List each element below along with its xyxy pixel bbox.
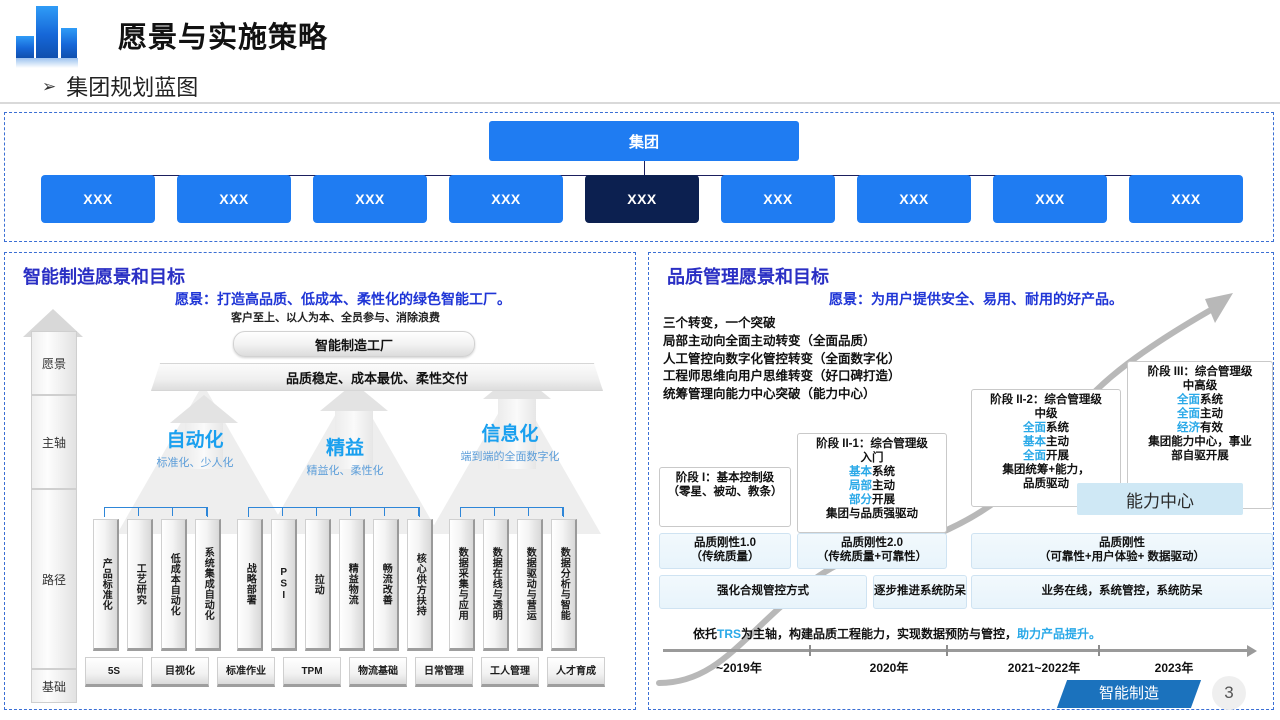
path-bracket-tick [282, 507, 283, 516]
path-bracket-tick [248, 507, 249, 516]
stage-line: 集团能力中心，事业 [1130, 435, 1270, 449]
foundation-chip[interactable]: 物流基础 [349, 657, 407, 687]
stage-line: 集团统筹+能力， [974, 463, 1118, 477]
stage-line: 部分开展 [800, 493, 944, 507]
timeline-tick-1 [809, 645, 811, 656]
org-node-2[interactable]: XXX [177, 175, 291, 223]
stage-title: 阶段 II-2：综合管理级 [974, 393, 1118, 407]
company-building-logo [14, 6, 92, 68]
transformation-line: 工程师思维向用户思维转变（好口碑打造） [663, 368, 901, 386]
transformation-line: 三个转变，一个突破 [663, 315, 901, 333]
stage-line: 部自驱开展 [1130, 449, 1270, 463]
left-vision-subtext: 客户至上、以人为本、全员参与、消除浪费 [231, 309, 440, 325]
org-connector-stem [644, 161, 645, 175]
transformation-line: 统筹管理向能力中心突破（能力中心） [663, 386, 901, 404]
timeline-tick-2 [946, 645, 948, 656]
foundation-chip[interactable]: 标准作业 [217, 657, 275, 687]
timeline-label: ~2019年 [679, 659, 799, 676]
stage-title: 阶段 I：基本控制级 [662, 471, 788, 485]
rigidity-cell[interactable]: 品质刚性1.0 （传统质量） [659, 533, 791, 569]
path-chip[interactable]: 战略部署 [237, 519, 263, 651]
path-chip[interactable]: 数据驱动与营运 [517, 519, 543, 651]
org-node-5[interactable]: XXX [585, 175, 699, 223]
pillar-title-2: 精益 精益化、柔性化 [275, 439, 415, 478]
stage-box-stage-1[interactable]: 阶段 I：基本控制级（零星、被动、教条） [659, 467, 791, 527]
timeline-tick-3 [1098, 645, 1100, 656]
stage-line: 入门 [800, 451, 944, 465]
section-subtitle: 集团规划蓝图 [66, 70, 198, 102]
path-bracket-tick [172, 507, 173, 516]
stage-line: 全面系统 [974, 421, 1118, 435]
timeline-label: 2020年 [829, 659, 949, 676]
path-group-bracket-2 [248, 507, 420, 517]
org-node-9[interactable]: XXX [1129, 175, 1243, 223]
org-chart-panel: 集团 XXXXXXXXXXXXXXXXXXXXXXXXXXX [4, 112, 1274, 242]
goal-band: 品质稳定、成本最优、柔性交付 [151, 363, 603, 391]
path-group-bracket-3 [460, 507, 564, 517]
stage-line: （零星、被动、教条） [662, 485, 788, 499]
stage-line: 中级 [974, 407, 1118, 421]
timeline-arrow-icon [1247, 645, 1257, 657]
stage-line: 局部主动 [800, 479, 944, 493]
org-node-8[interactable]: XXX [993, 175, 1107, 223]
rigidity-cell[interactable]: 品质刚性 （可靠性+用户体验+ 数据驱动） [971, 533, 1273, 569]
path-bracket-tick [460, 507, 461, 516]
path-chip[interactable]: 数据分析与智能 [551, 519, 577, 651]
control-cell[interactable]: 逐步推进系统防呆 [873, 575, 967, 609]
org-node-4[interactable]: XXX [449, 175, 563, 223]
transformation-line: 局部主动向全面主动转变（全面品质） [663, 333, 901, 351]
right-vision-statement: 愿景：为用户提供安全、易用、耐用的好产品。 [829, 289, 1123, 309]
foundation-chip[interactable]: 5S [85, 657, 143, 687]
timeline-label: 2021~2022年 [969, 659, 1119, 676]
path-chip[interactable]: 核心供方扶持 [407, 519, 433, 651]
page-number: 3 [1212, 676, 1246, 710]
path-bracket-tick [494, 507, 495, 516]
stage-line: 集团与品质强驱动 [800, 507, 944, 521]
path-bracket-tick [316, 507, 317, 516]
stage-title: 阶段 II-1：综合管理级 [800, 437, 944, 451]
timeline-caption: 依托TRS为主轴，构建品质工程能力，实现数据预防与管控，助力产品提升。 [693, 625, 1101, 642]
control-cell[interactable]: 强化合规管控方式 [659, 575, 867, 609]
path-bracket-tick [384, 507, 385, 516]
section-subtitle-row: ➢ 集团规划蓝图 [42, 70, 198, 102]
foundation-chip[interactable]: 工人管理 [481, 657, 539, 687]
axis-level-vision: 愿景 [31, 331, 77, 395]
pillar-title-3: 信息化 端到端的全面数字化 [425, 425, 595, 464]
left-vision-statement: 愿景：打造高品质、低成本、柔性化的绿色智能工厂。 [175, 289, 511, 309]
foundation-chip[interactable]: 日常管理 [415, 657, 473, 687]
path-chip[interactable]: 低成本自动化 [161, 519, 187, 651]
path-chip[interactable]: 精益物流 [339, 519, 365, 651]
pillar-title-1: 自动化 标准化、少人化 [125, 431, 265, 470]
foundation-chip[interactable]: 人才育成 [547, 657, 605, 687]
path-bracket-tick [562, 507, 563, 516]
left-panel-heading: 智能制造愿景和目标 [23, 263, 185, 289]
path-bracket-tick [206, 507, 207, 516]
header-divider [0, 102, 1280, 104]
path-chip[interactable]: 数据在线与透明 [483, 519, 509, 651]
transformation-list: 三个转变，一个突破局部主动向全面主动转变（全面品质）人工管控向数字化管控转变（全… [663, 315, 901, 404]
org-root-node[interactable]: 集团 [489, 121, 799, 161]
org-node-1[interactable]: XXX [41, 175, 155, 223]
rigidity-cell[interactable]: 品质刚性2.0 （传统质量+可靠性） [797, 533, 947, 569]
path-chip[interactable]: 畅流改善 [373, 519, 399, 651]
org-node-6[interactable]: XXX [721, 175, 835, 223]
smart-factory-pill: 智能制造工厂 [233, 331, 475, 357]
stage-title: 阶段 III：综合管理级 [1130, 365, 1270, 379]
control-cell[interactable]: 业务在线，系统管控，系统防呆 [971, 575, 1273, 609]
stage-line: 经济有效 [1130, 421, 1270, 435]
path-chip[interactable]: 产品标准化 [93, 519, 119, 651]
stage-line: 全面主动 [1130, 407, 1270, 421]
path-bracket-tick [528, 507, 529, 516]
axis-level-foundation: 基础 [31, 669, 77, 703]
foundation-chip[interactable]: 目视化 [151, 657, 209, 687]
smart-manufacturing-panel: 智能制造愿景和目标 愿景：打造高品质、低成本、柔性化的绿色智能工厂。 客户至上、… [4, 252, 636, 710]
stage-line: 中高级 [1130, 379, 1270, 393]
quality-management-panel: 品质管理愿景和目标 愿景：为用户提供安全、易用、耐用的好产品。 三个转变，一个突… [648, 252, 1274, 710]
timeline-label: 2023年 [1119, 659, 1229, 676]
path-bracket-tick [138, 507, 139, 516]
path-bracket-tick [104, 507, 105, 516]
axis-level-mainaxis: 主轴 [31, 395, 77, 489]
stage-line: 全面开展 [974, 449, 1118, 463]
path-chip[interactable]: PSI [271, 519, 297, 651]
stage-line: 基本系统 [800, 465, 944, 479]
axis-level-path: 路径 [31, 489, 77, 669]
stage-line: 基本主动 [974, 435, 1118, 449]
path-group-bracket-1 [104, 507, 208, 517]
stage-box-stage-2-1[interactable]: 阶段 II-1：综合管理级入门基本系统局部主动部分开展集团与品质强驱动 [797, 433, 947, 533]
capability-center-badge: 能力中心 [1077, 483, 1243, 515]
path-bracket-tick [418, 507, 419, 516]
footer-tag: 智能制造 [1057, 680, 1201, 708]
path-chip[interactable]: 数据采集与应用 [449, 519, 475, 651]
path-bracket-tick [350, 507, 351, 516]
page-title: 愿景与实施策略 [118, 14, 328, 56]
org-node-7[interactable]: XXX [857, 175, 971, 223]
stage-line: 全面系统 [1130, 393, 1270, 407]
foundation-chip[interactable]: TPM [283, 657, 341, 687]
org-node-3[interactable]: XXX [313, 175, 427, 223]
path-chip[interactable]: 工艺研究 [127, 519, 153, 651]
timeline-axis [663, 649, 1249, 652]
slide-root: 愿景与实施策略 ➢ 集团规划蓝图 集团 XXXXXXXXXXXXXXXXXXXX… [0, 0, 1280, 720]
bullet-arrow-icon: ➢ [42, 78, 56, 95]
right-panel-heading: 品质管理愿景和目标 [667, 263, 829, 289]
path-chip[interactable]: 拉动 [305, 519, 331, 651]
maturity-axis: 愿景 主轴 路径 基础 [31, 309, 75, 701]
transformation-line: 人工管控向数字化管控转变（全面数字化） [663, 351, 901, 369]
path-chip[interactable]: 系统集成自动化 [195, 519, 221, 651]
